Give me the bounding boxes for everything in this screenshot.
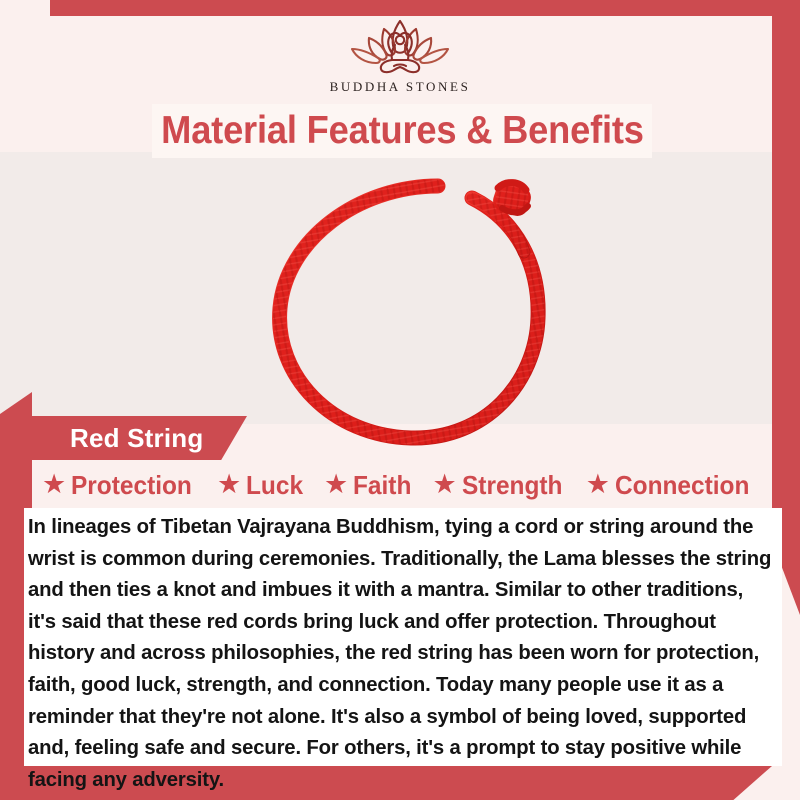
feature-item-faith: ★ Faith bbox=[324, 470, 415, 501]
lotus-meditation-icon bbox=[336, 16, 464, 76]
feature-label: Faith bbox=[353, 470, 411, 501]
star-icon: ★ bbox=[217, 471, 241, 498]
page-title: Material Features & Benefits bbox=[161, 109, 644, 153]
feature-label: Strength bbox=[462, 470, 562, 501]
red-braided-string-bracelet-icon bbox=[248, 168, 578, 460]
description-paragraph: In lineages of Tibetan Vajrayana Buddhis… bbox=[24, 508, 782, 796]
feature-item-strength: ★ Strength bbox=[433, 470, 569, 501]
feature-item-connection: ★ Connection bbox=[586, 470, 758, 501]
top-border-band bbox=[50, 0, 800, 16]
product-name-label: Red String bbox=[70, 423, 203, 454]
title-band: Material Features & Benefits bbox=[152, 104, 652, 158]
feature-label: Protection bbox=[71, 470, 192, 501]
brand-logo: BUDDHA STONES bbox=[0, 16, 800, 108]
star-icon: ★ bbox=[42, 471, 66, 498]
feature-label: Luck bbox=[246, 470, 303, 501]
feature-list: ★ Protection ★ Luck ★ Faith ★ Strength ★… bbox=[42, 466, 758, 504]
description-panel: In lineages of Tibetan Vajrayana Buddhis… bbox=[24, 508, 782, 766]
feature-label: Connection bbox=[615, 470, 749, 501]
star-icon: ★ bbox=[586, 471, 610, 498]
feature-item-protection: ★ Protection bbox=[42, 470, 200, 501]
product-image bbox=[248, 168, 578, 460]
star-icon: ★ bbox=[324, 471, 348, 498]
feature-item-luck: ★ Luck bbox=[217, 470, 307, 501]
product-name-ribbon: Red String bbox=[32, 416, 247, 460]
brand-name: BUDDHA STONES bbox=[330, 79, 471, 95]
star-icon: ★ bbox=[433, 471, 457, 498]
infographic-poster: BUDDHA STONES Material Features & Benefi… bbox=[0, 0, 800, 800]
